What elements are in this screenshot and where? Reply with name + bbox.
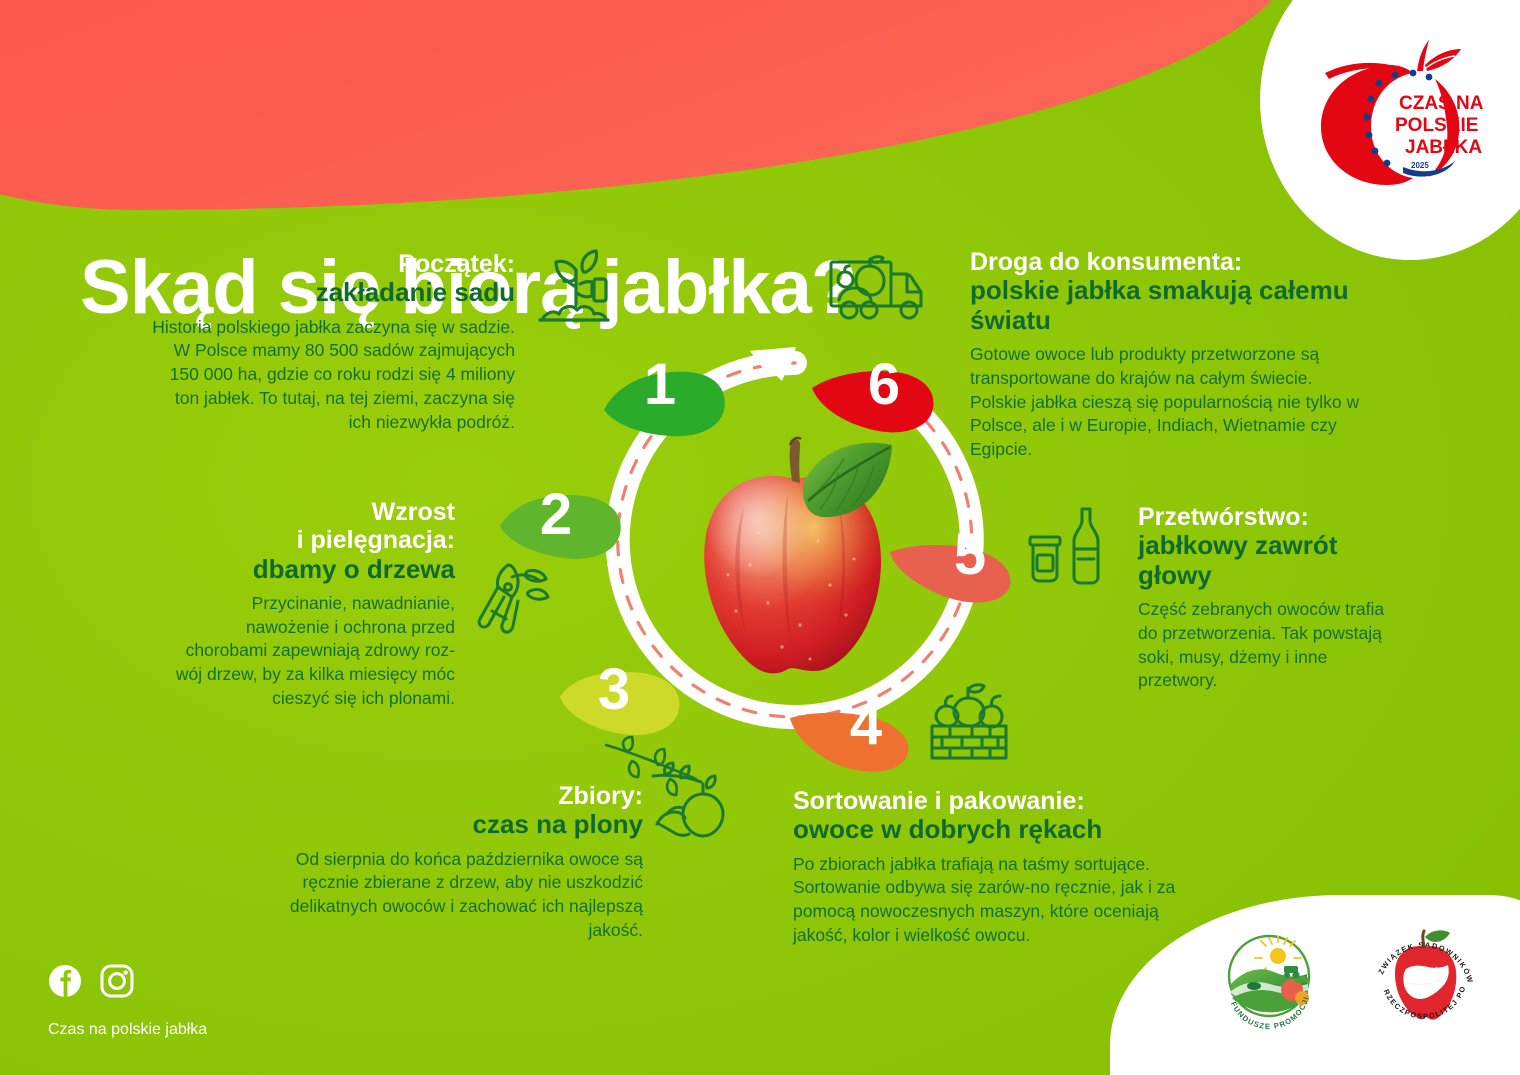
step-badge-2: 2 [498,480,630,572]
step-6-body: Gotowe owoce lub produkty przetworzone s… [970,343,1370,462]
step-1-body: Historia polskiego jabłka zaczyna się w … [150,316,515,435]
step-badge-4: 4 [788,690,920,782]
czas-na-polskie-jablka-logo-icon: CZAS NA POLSKIE JABŁKA 2025 [1295,35,1495,195]
header-banner [0,0,1300,210]
step-2-headline: dbamy o drzewa [175,555,455,584]
step-block-6: Droga do konsumenta: polskie jabłka smak… [970,248,1370,462]
step-badge-6-number: 6 [818,342,950,434]
step-3-headline: czas na plony [285,810,643,839]
step-6-eyebrow: Droga do konsumenta: [970,248,1370,276]
step-badge-1: 1 [600,352,732,444]
step-4-headline: owoce w dobrych rękach [793,815,1183,844]
infographic-poster: Skąd się biorą jabłka? CZAS NA POLSKI [0,0,1520,1075]
step-3-body: Od sierpnia do końca października owoce … [285,848,643,943]
step-block-1: Początek: zakładanie sadu Historia polsk… [150,250,515,435]
social-links[interactable] [48,964,134,1003]
step-5-headline: jabłkowy zawrót głowy [1138,531,1408,590]
step-2-eyebrow-line-2: i pielęgnacja: [175,526,455,554]
step-badge-2-number: 2 [490,472,622,564]
hand-planting-seedling-icon [528,248,620,345]
step-1-eyebrow: Początek: [150,250,515,278]
step-1-headline: zakładanie sadu [150,278,515,307]
svg-text:POLSKIE: POLSKIE [1395,115,1478,136]
step-6-headline: polskie jabłka smakują całemu światu [970,276,1370,335]
fundusze-promocji-logo: FUNDUSZE PROMOCJI [1216,926,1322,1037]
step-5-body: Część zebranych owoców trafia do przetwo… [1138,598,1408,693]
facebook-icon[interactable] [48,964,82,1003]
delivery-truck-icon [825,248,933,341]
step-badge-4-number: 4 [800,682,932,774]
step-badge-5: 5 [888,520,1020,612]
decorative-branch-icon [600,735,730,810]
step-badge-3-number: 3 [548,647,680,739]
svg-text:JABŁKA: JABŁKA [1405,137,1482,158]
step-block-5: Przetwórstwo: jabłkowy zawrót głowy Częś… [1138,503,1408,693]
brand-logo: CZAS NA POLSKIE JABŁKA 2025 [1295,35,1495,195]
step-badge-1-number: 1 [594,342,726,434]
zwiazek-sadownikow-logo: ZWIĄZEK SADOWNIKÓW RZECZPOSPOLITEJ POLSK… [1368,923,1480,1040]
step-3-eyebrow: Zbiory: [285,782,643,810]
step-block-3: Zbiory: czas na plony Od sierpnia do koń… [285,782,643,943]
step-badge-3: 3 [558,655,690,747]
svg-text:2025: 2025 [1411,161,1429,170]
step-badge-5-number: 5 [904,512,1036,604]
step-block-4: Sortowanie i pakowanie: owoce w dobrych … [793,787,1183,948]
instagram-icon[interactable] [100,964,134,1003]
step-2-eyebrow-line-1: Wzrost [175,498,455,526]
step-2-body: Przycinanie, nawadnianie, nawożenie i oc… [175,592,455,711]
step-4-eyebrow: Sortowanie i pakowanie: [793,787,1183,815]
footer-caption: Czas na polskie jabłka [48,1021,207,1039]
svg-text:CZAS NA: CZAS NA [1399,93,1484,114]
step-5-eyebrow: Przetwórstwo: [1138,503,1408,531]
footer-logos: FUNDUSZE PROMOCJI ZWIĄZEK SA [1216,923,1480,1040]
step-4-body: Po zbiorach jabłka trafiają na taśmy sor… [793,853,1183,948]
step-block-2: Wzrost i pielęgnacja: dbamy o drzewa Prz… [175,498,455,711]
step-badge-6: 6 [808,352,940,444]
